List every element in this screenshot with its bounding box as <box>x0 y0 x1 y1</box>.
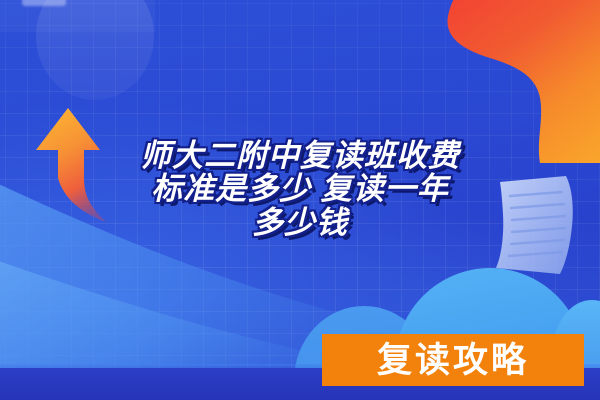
page-title: 师大二附中复读班收费 标准是多少 复读一年 多少钱 <box>0 139 600 239</box>
headline-line-3: 多少钱 <box>0 206 600 239</box>
category-ribbon-label: 复读攻略 <box>377 343 529 378</box>
headline-line-2: 标准是多少 复读一年 <box>0 172 600 205</box>
category-ribbon: 复读攻略 <box>322 334 584 386</box>
headline-line-1: 师大二附中复读班收费 <box>0 139 600 172</box>
poster-canvas: 师大二附中复读班收费 标准是多少 复读一年 多少钱 复读攻略 <box>0 0 600 400</box>
top-edge-chip <box>22 0 66 6</box>
